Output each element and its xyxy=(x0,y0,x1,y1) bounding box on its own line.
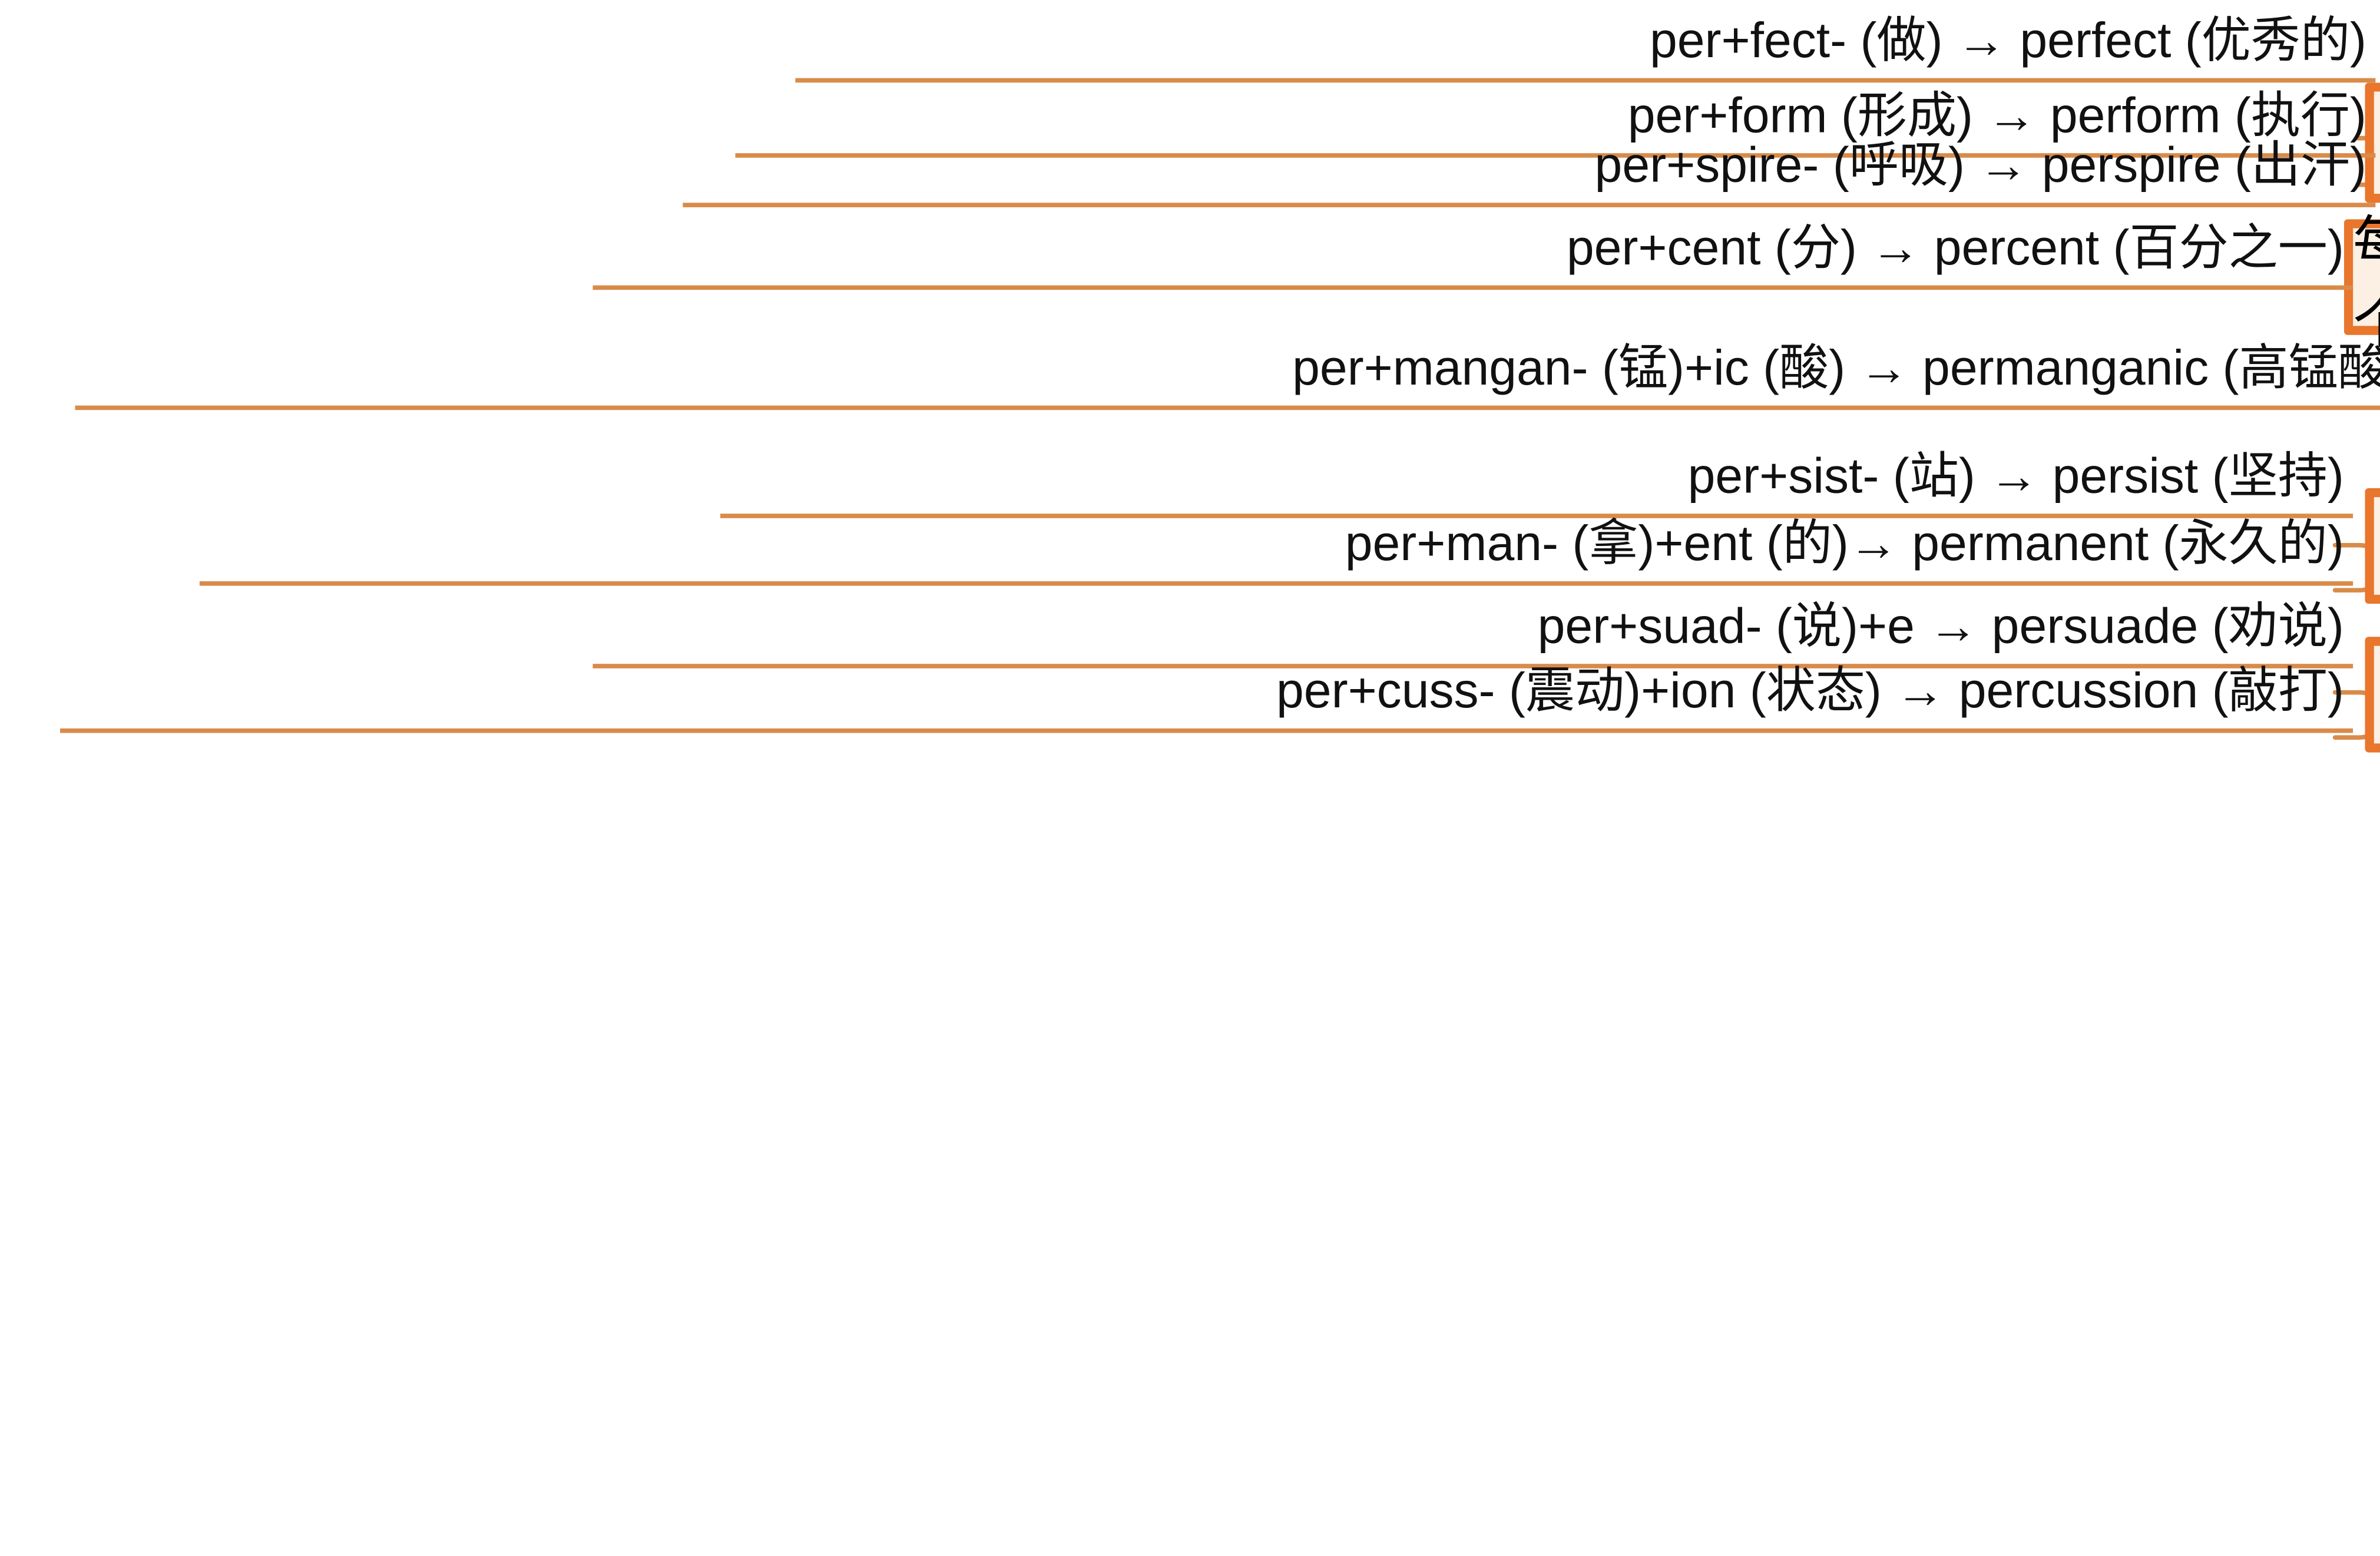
leaf-item[interactable]: per+spire- (呼吸) → perspire (出汗) xyxy=(683,140,2375,207)
leaf-item[interactable]: per+fect- (做) → perfect (优秀的) xyxy=(795,15,2375,82)
leaf-text: per+cuss- (震动)+ion (状态) → percussion (敲打… xyxy=(1276,663,2344,718)
branch-label-chedi[interactable]: 彻底 xyxy=(2365,488,2380,604)
branch-label-text: 每一个 xyxy=(2353,196,2380,358)
leaf-item[interactable]: per+cent (分) → percent (百分之一) xyxy=(592,222,2353,289)
branch-label-yizhi[interactable]: 一直 xyxy=(2365,637,2380,752)
leaf-item[interactable]: per+suad- (说)+e → persuade (劝说) xyxy=(592,601,2353,668)
leaf-item[interactable]: per+sist- (站) → persist (坚持) xyxy=(720,451,2353,518)
leaf-text: per+form (形成) → perform (执行) xyxy=(1628,87,2366,143)
leaf-text: per+fect- (做) → perfect (优秀的) xyxy=(1650,12,2366,67)
leaf-item[interactable]: per+mangan- (锰)+ic (酸) → permanganic (高锰… xyxy=(75,342,2380,409)
leaf-text: per+cent (分) → percent (百分之一) xyxy=(1567,219,2344,274)
leaf-text: per+suad- (说)+e → persuade (劝说) xyxy=(1538,598,2344,653)
leaf-text: per+man- (拿)+ent (的)→ permanent (永久的) xyxy=(1345,515,2344,571)
leaf-text: per+spire- (呼吸) → perspire (出汗) xyxy=(1595,137,2367,192)
mindmap-canvas: 前缀per- 与pre- 全部 每一个 高 彻底 一直 透过 毁坏 前面 预先 … xyxy=(0,0,2380,778)
leaf-item[interactable]: per+cuss- (震动)+ion (状态) → percussion (敲打… xyxy=(60,666,2353,733)
leaf-item[interactable]: per+man- (拿)+ent (的)→ permanent (永久的) xyxy=(200,518,2353,585)
leaf-text: per+mangan- (锰)+ic (酸) → permanganic (高锰… xyxy=(1292,339,2380,395)
leaf-text: per+sist- (站) → persist (坚持) xyxy=(1688,448,2344,503)
